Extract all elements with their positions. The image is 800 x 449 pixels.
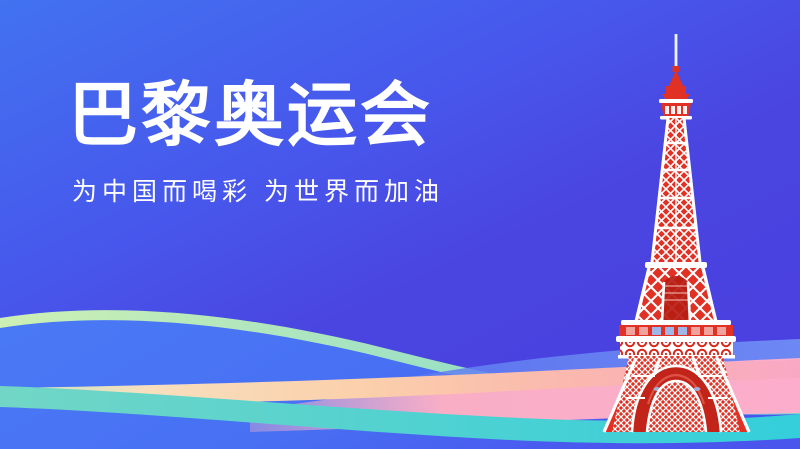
tower-deck-top-rail <box>659 99 693 103</box>
tower-upper-lattice <box>640 118 720 264</box>
olympics-poster: 巴黎奥运会 为中国而喝彩 为世界而加油 <box>0 0 800 449</box>
tower-frieze-band <box>620 342 733 356</box>
tower-platform1-band <box>619 325 733 337</box>
tower-top-cone <box>668 70 684 88</box>
tower-platform1-upper-rail <box>621 320 731 325</box>
tower-platform2-top <box>645 262 707 268</box>
tower-platform1-lower-rail <box>616 336 736 342</box>
tower-top-block <box>666 86 686 94</box>
tower-antenna <box>675 34 678 68</box>
eiffel-tower-illustration <box>0 0 800 449</box>
